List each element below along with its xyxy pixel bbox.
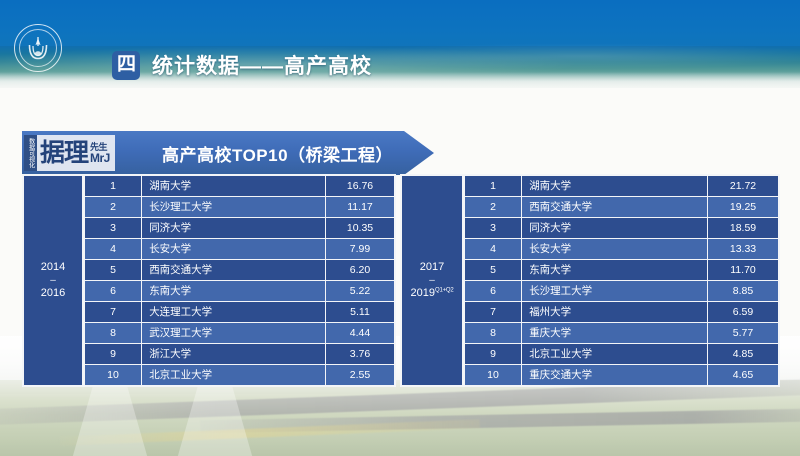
cell-university: 长安大学: [522, 239, 707, 259]
table-row: 1湖南大学16.76: [85, 176, 394, 196]
cell-rank: 8: [85, 323, 141, 343]
cell-university: 重庆交通大学: [522, 365, 707, 385]
table-row: 3同济大学18.59: [465, 218, 778, 238]
cell-rank: 10: [85, 365, 141, 385]
cell-university: 西南交通大学: [142, 260, 325, 280]
chart-title: 高产高校TOP10（桥梁工程）: [162, 141, 393, 166]
table-row: 3同济大学10.35: [85, 218, 394, 238]
cell-university: 武汉理工大学: [142, 323, 325, 343]
cell-university: 北京工业大学: [142, 365, 325, 385]
cell-value: 2.55: [326, 365, 394, 385]
cell-university: 同济大学: [522, 218, 707, 238]
cell-university: 同济大学: [142, 218, 325, 238]
cell-rank: 9: [465, 344, 521, 364]
cell-value: 11.17: [326, 197, 394, 217]
section-number-badge: 四: [112, 51, 140, 80]
table-row: 6东南大学5.22: [85, 281, 394, 301]
year-start-right: 2017: [420, 259, 444, 276]
watermark-sub-group: 先生 MrJ: [90, 135, 112, 171]
cell-university: 西南交通大学: [522, 197, 707, 217]
table-row: 5东南大学11.70: [465, 260, 778, 280]
table-row: 10重庆交通大学4.65: [465, 365, 778, 385]
watermark-sub-en: MrJ: [90, 152, 110, 164]
cell-value: 5.11: [326, 302, 394, 322]
cell-rank: 5: [465, 260, 521, 280]
cell-value: 3.76: [326, 344, 394, 364]
cell-university: 东南大学: [142, 281, 325, 301]
table-row: 9浙江大学3.76: [85, 344, 394, 364]
cell-value: 11.70: [708, 260, 778, 280]
table-row: 2西南交通大学19.25: [465, 197, 778, 217]
cell-value: 7.99: [326, 239, 394, 259]
year-range-label-left: 2014 – 2016: [24, 176, 82, 385]
cell-university: 福州大学: [522, 302, 707, 322]
cell-rank: 4: [85, 239, 141, 259]
watermark-vertical-text: 数据可视化: [24, 135, 37, 171]
ranking-table-2017-2019: 2017 – 2019Q1+Q2 1湖南大学21.722西南交通大学19.253…: [400, 174, 780, 387]
year-dash-left: –: [50, 276, 56, 285]
year-start-left: 2014: [41, 259, 65, 276]
watermark-logo: 数据可视化 据理 先生 MrJ: [24, 135, 115, 171]
slide-title-group: 四 统计数据——高产高校: [112, 50, 372, 80]
table-row: 9北京工业大学4.85: [465, 344, 778, 364]
cell-university: 重庆大学: [522, 323, 707, 343]
cell-rank: 6: [85, 281, 141, 301]
ranking-table-2014-2016: 2014 – 2016 1湖南大学16.762长沙理工大学11.173同济大学1…: [22, 174, 396, 387]
cell-rank: 1: [85, 176, 141, 196]
page-title: 统计数据——高产高校: [152, 50, 372, 80]
ranking-tables: 2014 – 2016 1湖南大学16.762长沙理工大学11.173同济大学1…: [22, 174, 782, 387]
presentation-slide: 四 统计数据——高产高校 数据可视化 据理 先生 MrJ 高产高校TOP10（桥…: [0, 0, 800, 456]
table-row: 10北京工业大学2.55: [85, 365, 394, 385]
cell-rank: 3: [85, 218, 141, 238]
cell-rank: 7: [465, 302, 521, 322]
cell-rank: 7: [85, 302, 141, 322]
watermark-main-text: 据理: [37, 135, 90, 171]
cell-value: 21.72: [708, 176, 778, 196]
cell-rank: 1: [465, 176, 521, 196]
cell-value: 5.22: [326, 281, 394, 301]
cell-university: 东南大学: [522, 260, 707, 280]
cell-value: 13.33: [708, 239, 778, 259]
year-quarter-superscript: Q1+Q2: [435, 287, 454, 293]
table-row: 2长沙理工大学11.17: [85, 197, 394, 217]
cell-value: 4.65: [708, 365, 778, 385]
slide-header-banner: 四 统计数据——高产高校: [0, 0, 800, 88]
cell-university: 长沙理工大学: [142, 197, 325, 217]
table-row: 8重庆大学5.77: [465, 323, 778, 343]
cell-university: 大连理工大学: [142, 302, 325, 322]
year-end-left: 2016: [41, 285, 65, 302]
table-rows-left: 1湖南大学16.762长沙理工大学11.173同济大学10.354长安大学7.9…: [82, 176, 394, 385]
cell-rank: 2: [85, 197, 141, 217]
cell-university: 浙江大学: [142, 344, 325, 364]
table-rows-right: 1湖南大学21.722西南交通大学19.253同济大学18.594长安大学13.…: [462, 176, 778, 385]
year-end-right: 2019: [411, 287, 435, 299]
cell-value: 4.85: [708, 344, 778, 364]
table-row: 1湖南大学21.72: [465, 176, 778, 196]
cell-value: 5.77: [708, 323, 778, 343]
cell-value: 6.20: [326, 260, 394, 280]
cell-value: 16.76: [326, 176, 394, 196]
chart-title-banner: 数据可视化 据理 先生 MrJ 高产高校TOP10（桥梁工程）: [22, 131, 434, 175]
cell-rank: 8: [465, 323, 521, 343]
cell-value: 10.35: [326, 218, 394, 238]
cell-rank: 3: [465, 218, 521, 238]
cell-rank: 9: [85, 344, 141, 364]
cell-university: 长沙理工大学: [522, 281, 707, 301]
cell-rank: 5: [85, 260, 141, 280]
university-emblem-icon: [14, 24, 62, 72]
cell-university: 湖南大学: [142, 176, 325, 196]
table-row: 7大连理工大学5.11: [85, 302, 394, 322]
table-row: 4长安大学7.99: [85, 239, 394, 259]
cell-rank: 4: [465, 239, 521, 259]
cell-university: 长安大学: [142, 239, 325, 259]
cell-value: 8.85: [708, 281, 778, 301]
cell-rank: 2: [465, 197, 521, 217]
cell-university: 北京工业大学: [522, 344, 707, 364]
cell-rank: 10: [465, 365, 521, 385]
cell-rank: 6: [465, 281, 521, 301]
table-row: 6长沙理工大学8.85: [465, 281, 778, 301]
table-row: 5西南交通大学6.20: [85, 260, 394, 280]
year-dash-right: –: [429, 276, 435, 285]
table-row: 4长安大学13.33: [465, 239, 778, 259]
cell-university: 湖南大学: [522, 176, 707, 196]
year-range-label-right: 2017 – 2019Q1+Q2: [402, 176, 462, 385]
cell-value: 19.25: [708, 197, 778, 217]
year-end-right-group: 2019Q1+Q2: [411, 285, 454, 302]
cell-value: 18.59: [708, 218, 778, 238]
emblem-glyph-icon: [23, 33, 53, 63]
table-row: 7福州大学6.59: [465, 302, 778, 322]
cell-value: 6.59: [708, 302, 778, 322]
cell-value: 4.44: [326, 323, 394, 343]
table-row: 8武汉理工大学4.44: [85, 323, 394, 343]
